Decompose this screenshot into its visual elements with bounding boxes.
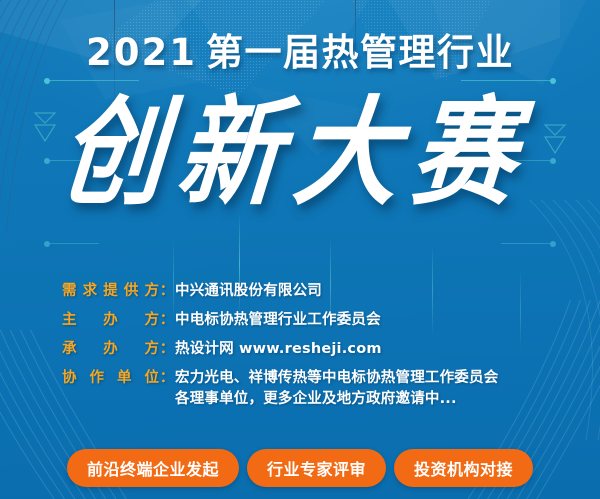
- feature-pill-group: 前沿终端企业发起 行业专家评审 投资机构对接: [0, 449, 600, 487]
- info-label: 主办方: [62, 310, 159, 331]
- info-value: 宏力光电、祥博传热等中电标协热管理工作委员会 各理事单位，更多企业及地方政府邀请…: [175, 368, 542, 410]
- poster-title: 2021第一届热管理行业: [0, 34, 600, 71]
- connector-line-right: [501, 243, 553, 244]
- info-row: 承办方 ： 热设计网 www.resheji.com: [62, 339, 542, 360]
- info-value-line1: 宏力光电、祥博传热等中电标协热管理工作委员会: [175, 370, 498, 386]
- info-label: 需求提供方: [62, 281, 159, 302]
- info-value: 中兴通讯股份有限公司: [175, 281, 542, 302]
- info-row: 主办方 ： 中电标协热管理行业工作委员会: [62, 310, 542, 331]
- info-value-website[interactable]: 热设计网 www.resheji.com: [175, 339, 542, 360]
- title-subtitle: 第一届热管理行业: [206, 32, 514, 73]
- connector-line-right: [461, 80, 553, 81]
- info-colon: ：: [159, 281, 175, 302]
- connector-line-left: [47, 80, 139, 81]
- title-year: 2021: [86, 31, 197, 74]
- connector-line-left: [47, 243, 99, 244]
- info-colon: ：: [159, 310, 175, 331]
- pill-initiated-by-enterprises[interactable]: 前沿终端企业发起: [67, 449, 239, 487]
- pill-investor-matching[interactable]: 投资机构对接: [394, 449, 533, 487]
- info-value: 中电标协热管理行业工作委员会: [175, 310, 542, 331]
- info-label: 协作单位: [62, 368, 159, 389]
- info-block: 需求提供方 ： 中兴通讯股份有限公司 主办方 ： 中电标协热管理行业工作委员会 …: [62, 281, 542, 418]
- pill-expert-review[interactable]: 行业专家评审: [247, 449, 386, 487]
- info-colon: ：: [159, 339, 175, 360]
- info-colon: ：: [159, 368, 175, 389]
- headline-calligraphy: 创新大赛: [0, 94, 600, 212]
- info-label: 承办方: [62, 339, 159, 360]
- info-row: 协作单位 ： 宏力光电、祥博传热等中电标协热管理工作委员会 各理事单位，更多企业…: [62, 368, 542, 410]
- info-value-line2: 各理事单位，更多企业及地方政府邀请中...: [175, 389, 542, 410]
- event-poster: 2021第一届热管理行业 创新大赛 需求提供方 ： 中兴通讯股份有限公司 主办方…: [0, 0, 600, 499]
- background-facets: [0, 0, 600, 499]
- info-row: 需求提供方 ： 中兴通讯股份有限公司: [62, 281, 542, 302]
